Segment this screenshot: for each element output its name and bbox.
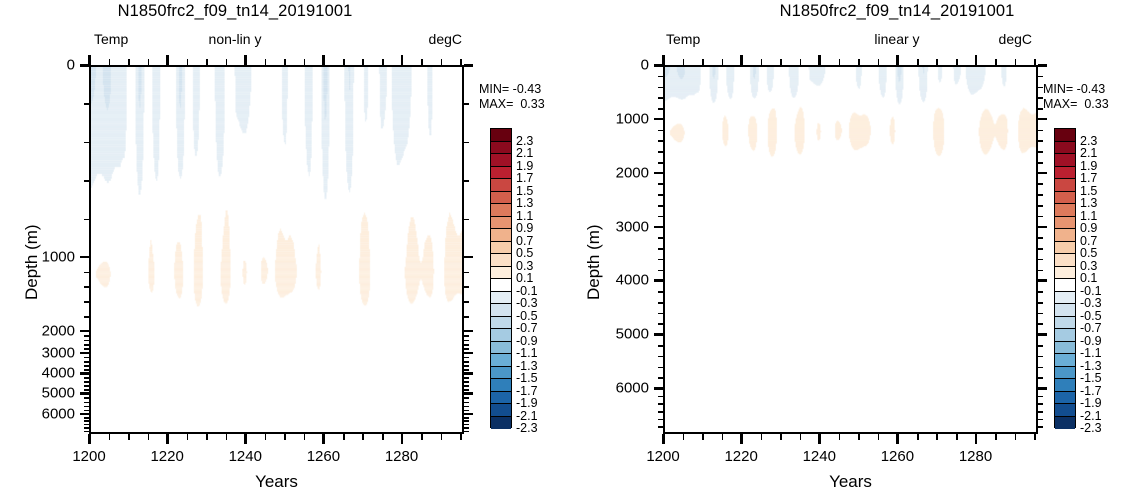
y-tick-minor: [658, 396, 663, 398]
y-tick-minor: [1038, 237, 1043, 239]
y-tick-label: 0: [166, 57, 649, 74]
x-tick-minor: [800, 434, 802, 440]
y-tick-minor: [464, 348, 469, 350]
page-title: N1850frc2_f09_tn14_20191001: [0, 2, 470, 21]
x-axis-label: Years: [89, 472, 464, 492]
colorbar-segment: [1055, 129, 1075, 142]
x-tick-minor: [839, 59, 841, 65]
y-tick-minor: [84, 180, 89, 182]
y-tick-minor: [1038, 194, 1043, 196]
x-tick-minor: [878, 434, 880, 440]
y-tick-minor: [658, 97, 663, 99]
colorbar-segment: [491, 367, 511, 380]
y-tick-minor: [464, 427, 469, 429]
colorbar-tick-label: -2.3: [516, 421, 538, 435]
colorbar-segment: [1055, 354, 1075, 367]
y-tick-label: 4000: [0, 365, 75, 382]
x-tick-minor: [362, 434, 364, 440]
y-tick-label: 2000: [166, 164, 649, 181]
y-tick-minor: [658, 367, 663, 369]
colorbar-segment: [1055, 417, 1075, 430]
y-tick-minor: [658, 237, 663, 239]
x-tick-minor: [109, 59, 111, 65]
y-tick-label: 3000: [0, 344, 75, 361]
y-tick-minor: [1038, 270, 1043, 272]
max-value-label: MAX= 0.33: [1043, 97, 1109, 112]
y-tick-minor: [1038, 313, 1043, 315]
y-tick-minor: [1038, 76, 1043, 78]
y-tick-label: 4000: [166, 272, 649, 289]
x-tick-major: [975, 434, 978, 444]
x-tick-major: [740, 434, 743, 444]
x-tick-minor: [995, 434, 997, 440]
colorbar-segment: [1055, 279, 1075, 292]
y-tick-minor: [464, 344, 469, 346]
y-tick-major: [80, 352, 89, 355]
y-tick-minor: [464, 406, 469, 408]
x-tick-minor: [956, 59, 958, 65]
x-tick-major: [401, 434, 404, 444]
y-tick-minor: [658, 194, 663, 196]
x-tick-minor: [343, 434, 345, 440]
y-tick-minor: [84, 348, 89, 350]
y-tick-minor: [464, 420, 469, 422]
colorbar-segment: [1055, 329, 1075, 342]
x-tick-minor: [780, 434, 782, 440]
y-tick-major: [80, 392, 89, 395]
x-tick-minor: [995, 59, 997, 65]
colorbar-segment: [491, 254, 511, 267]
y-tick-minor: [84, 397, 89, 399]
y-tick-minor: [658, 87, 663, 89]
y-tick-label: 1000: [0, 248, 75, 265]
y-tick-minor: [658, 377, 663, 379]
y-tick-minor: [1038, 426, 1043, 428]
y-tick-minor: [84, 340, 89, 342]
y-tick-minor: [1038, 411, 1043, 413]
x-tick-minor: [761, 59, 763, 65]
x-tick-minor: [128, 59, 130, 65]
y-tick-minor: [1038, 183, 1043, 185]
x-tick-minor: [460, 434, 462, 440]
x-tick-minor: [917, 434, 919, 440]
x-tick-major: [818, 55, 821, 65]
y-tick-minor: [464, 377, 469, 379]
colorbar-segment: [1055, 142, 1075, 155]
y-tick-major: [1038, 226, 1047, 229]
x-tick-minor: [128, 434, 130, 440]
colorbar-segment: [1055, 304, 1075, 317]
y-tick-major: [464, 256, 473, 259]
y-tick-label: 5000: [166, 326, 649, 343]
y-tick-minor: [658, 216, 663, 218]
y-tick-minor: [1038, 345, 1043, 347]
x-tick-minor: [1034, 59, 1036, 65]
x-tick-minor: [936, 59, 938, 65]
x-tick-minor: [722, 434, 724, 440]
y-tick-major: [654, 226, 663, 229]
colorbar: [1054, 128, 1076, 428]
x-tick-major: [322, 434, 325, 444]
y-tick-minor: [1038, 419, 1043, 421]
x-tick-minor: [148, 434, 150, 440]
x-tick-label: 1260: [881, 448, 914, 465]
x-tick-minor: [917, 59, 919, 65]
y-tick-minor: [658, 302, 663, 304]
y-tick-major: [80, 330, 89, 333]
y-tick-major: [464, 352, 473, 355]
y-tick-minor: [1038, 162, 1043, 164]
x-tick-minor: [206, 434, 208, 440]
x-tick-minor: [956, 434, 958, 440]
x-tick-major: [975, 55, 978, 65]
colorbar-segment: [1055, 154, 1075, 167]
x-tick-minor: [441, 434, 443, 440]
x-tick-label: 1200: [646, 448, 679, 465]
y-tick-minor: [84, 417, 89, 419]
y-tick-major: [654, 387, 663, 390]
y-tick-minor: [1038, 216, 1043, 218]
y-tick-minor: [84, 142, 89, 144]
colorbar-segment: [1055, 317, 1075, 330]
y-tick-minor: [84, 369, 89, 371]
x-tick-label: 1220: [150, 448, 183, 465]
x-tick-minor: [1034, 434, 1036, 440]
y-tick-minor: [84, 402, 89, 404]
y-tick-minor: [658, 419, 663, 421]
y-tick-major: [1038, 118, 1047, 121]
colorbar-segment: [491, 354, 511, 367]
y-tick-major: [1038, 387, 1047, 390]
y-tick-minor: [84, 103, 89, 105]
y-tick-label: 6000: [0, 405, 75, 422]
x-tick-minor: [1015, 434, 1017, 440]
y-tick-minor: [84, 272, 89, 274]
x-tick-major: [88, 55, 91, 65]
colorbar-segment: [1055, 179, 1075, 192]
y-tick-minor: [658, 323, 663, 325]
y-tick-minor: [464, 316, 469, 318]
x-tick-major: [896, 55, 899, 65]
x-axis-label: Years: [663, 472, 1038, 492]
y-tick-minor: [658, 291, 663, 293]
x-tick-minor: [858, 59, 860, 65]
y-tick-minor: [658, 248, 663, 250]
x-tick-label: 1240: [229, 448, 262, 465]
x-tick-major: [662, 55, 665, 65]
x-tick-minor: [761, 434, 763, 440]
y-tick-minor: [1038, 248, 1043, 250]
x-tick-major: [818, 434, 821, 444]
y-tick-minor: [658, 130, 663, 132]
y-tick-minor: [1038, 323, 1043, 325]
y-tick-minor: [1038, 356, 1043, 358]
y-tick-minor: [84, 361, 89, 363]
y-tick-label: 2000: [0, 322, 75, 339]
y-tick-minor: [1038, 367, 1043, 369]
x-tick-minor: [187, 434, 189, 440]
x-tick-minor: [722, 59, 724, 65]
y-tick-minor: [84, 365, 89, 367]
y-tick-major: [1038, 64, 1047, 67]
y-tick-minor: [1038, 302, 1043, 304]
y-tick-minor: [464, 361, 469, 363]
colorbar-segment: [491, 192, 511, 205]
colorbar-segment: [1055, 342, 1075, 355]
x-tick-minor: [284, 434, 286, 440]
colorbar-segment: [1055, 217, 1075, 230]
colorbar-segment: [1055, 204, 1075, 217]
x-tick-minor: [702, 59, 704, 65]
y-tick-minor: [84, 385, 89, 387]
y-tick-minor: [464, 431, 469, 433]
header-axis-type: non-lin y: [0, 31, 470, 47]
colorbar-tick-label: -2.3: [1080, 421, 1102, 435]
y-tick-minor: [84, 219, 89, 221]
y-tick-minor: [658, 76, 663, 78]
header-axis-type: linear y: [662, 31, 1132, 47]
page-title: N1850frc2_f09_tn14_20191001: [662, 2, 1132, 21]
y-tick-minor: [84, 286, 89, 288]
colorbar-segment: [1055, 254, 1075, 267]
colorbar-segment: [491, 129, 511, 142]
y-tick-minor: [658, 205, 663, 207]
x-tick-label: 1280: [959, 448, 992, 465]
y-tick-label: 0: [0, 57, 75, 74]
y-tick-major: [654, 279, 663, 282]
y-tick-minor: [464, 417, 469, 419]
y-tick-minor: [464, 142, 469, 144]
y-tick-minor: [1038, 140, 1043, 142]
y-tick-major: [1038, 172, 1047, 175]
y-tick-minor: [84, 316, 89, 318]
colorbar-segment: [491, 304, 511, 317]
y-tick-minor: [464, 397, 469, 399]
colorbar-segment: [491, 417, 511, 430]
colorbar-segment: [491, 204, 511, 217]
y-tick-minor: [84, 335, 89, 337]
y-tick-minor: [84, 424, 89, 426]
y-tick-minor: [1038, 151, 1043, 153]
x-tick-minor: [683, 434, 685, 440]
y-tick-major: [464, 372, 473, 375]
x-tick-minor: [878, 59, 880, 65]
panel-left: N1850frc2_f09_tn14_20191001 Temp non-lin…: [0, 0, 566, 499]
y-tick-minor: [658, 259, 663, 261]
colorbar-segment: [1055, 379, 1075, 392]
colorbar-segment: [491, 342, 511, 355]
y-tick-minor: [84, 406, 89, 408]
header-units: degC: [429, 31, 462, 47]
y-tick-minor: [84, 410, 89, 412]
y-tick-minor: [84, 427, 89, 429]
x-tick-major: [662, 434, 665, 444]
y-tick-minor: [1038, 377, 1043, 379]
colorbar-segment: [491, 292, 511, 305]
y-tick-minor: [464, 369, 469, 371]
x-tick-label: 1240: [803, 448, 836, 465]
y-tick-minor: [658, 426, 663, 428]
y-tick-minor: [1038, 205, 1043, 207]
y-tick-minor: [464, 424, 469, 426]
temperature-field: [665, 67, 1036, 432]
y-tick-minor: [84, 377, 89, 379]
y-tick-minor: [464, 357, 469, 359]
y-tick-major: [654, 333, 663, 336]
header-units: degC: [999, 31, 1032, 47]
x-tick-minor: [839, 434, 841, 440]
y-tick-minor: [84, 420, 89, 422]
x-tick-minor: [304, 434, 306, 440]
colorbar-segment: [1055, 242, 1075, 255]
y-tick-minor: [464, 301, 469, 303]
y-tick-major: [654, 172, 663, 175]
y-tick-major: [654, 118, 663, 121]
panel-right: N1850frc2_f09_tn14_20191001 Temp linear …: [566, 0, 1132, 499]
x-tick-major: [166, 434, 169, 444]
x-tick-major: [88, 434, 91, 444]
y-tick-label: 6000: [166, 380, 649, 397]
x-tick-minor: [683, 59, 685, 65]
y-tick-minor: [658, 345, 663, 347]
y-tick-major: [80, 372, 89, 375]
x-tick-label: 1280: [385, 448, 418, 465]
colorbar-segment: [1055, 292, 1075, 305]
y-tick-minor: [84, 431, 89, 433]
y-tick-minor: [1038, 291, 1043, 293]
y-tick-minor: [464, 402, 469, 404]
y-tick-minor: [84, 389, 89, 391]
colorbar-segment: [1055, 167, 1075, 180]
y-tick-minor: [464, 365, 469, 367]
y-tick-minor: [658, 183, 663, 185]
y-tick-major: [1038, 279, 1047, 282]
y-tick-minor: [1038, 396, 1043, 398]
y-tick-minor: [1038, 403, 1043, 405]
min-value-label: MIN= -0.43: [1043, 82, 1105, 97]
x-tick-minor: [265, 434, 267, 440]
colorbar-segment: [1055, 267, 1075, 280]
colorbar-segment: [1055, 404, 1075, 417]
colorbar-segment: [1055, 229, 1075, 242]
y-tick-label: 5000: [0, 385, 75, 402]
y-tick-major: [80, 256, 89, 259]
y-tick-major: [1038, 333, 1047, 336]
x-tick-major: [244, 434, 247, 444]
x-tick-major: [896, 434, 899, 444]
x-tick-minor: [780, 59, 782, 65]
x-tick-minor: [936, 434, 938, 440]
y-tick-minor: [1038, 130, 1043, 132]
y-tick-minor: [84, 301, 89, 303]
heatmap-plot-linear: [663, 65, 1038, 434]
x-tick-minor: [421, 434, 423, 440]
y-tick-minor: [84, 357, 89, 359]
y-tick-minor: [658, 270, 663, 272]
x-tick-minor: [702, 434, 704, 440]
x-tick-minor: [858, 434, 860, 440]
y-tick-minor: [658, 162, 663, 164]
y-tick-major: [80, 413, 89, 416]
y-tick-minor: [464, 103, 469, 105]
y-tick-label: 3000: [166, 218, 649, 235]
y-tick-minor: [658, 313, 663, 315]
y-tick-minor: [1038, 259, 1043, 261]
x-tick-label: 1200: [72, 448, 105, 465]
colorbar-segment: [1055, 392, 1075, 405]
x-tick-minor: [109, 434, 111, 440]
x-tick-major: [740, 55, 743, 65]
x-tick-minor: [800, 59, 802, 65]
y-tick-minor: [464, 410, 469, 412]
min-value-label: MIN= -0.43: [479, 82, 541, 97]
colorbar-segment: [1055, 192, 1075, 205]
colorbar-segment: [491, 142, 511, 155]
x-tick-minor: [148, 59, 150, 65]
y-tick-minor: [658, 411, 663, 413]
y-tick-label: 1000: [166, 110, 649, 127]
y-tick-minor: [658, 151, 663, 153]
colorbar-segment: [491, 404, 511, 417]
y-tick-minor: [84, 381, 89, 383]
x-tick-label: 1260: [307, 448, 340, 465]
x-tick-minor: [382, 434, 384, 440]
x-tick-minor: [1015, 59, 1017, 65]
colorbar-segment: [1055, 367, 1075, 380]
y-tick-minor: [658, 403, 663, 405]
y-tick-minor: [658, 108, 663, 110]
y-tick-minor: [84, 344, 89, 346]
y-tick-minor: [658, 356, 663, 358]
y-tick-minor: [658, 140, 663, 142]
x-tick-minor: [226, 434, 228, 440]
y-tick-major: [464, 413, 473, 416]
colorbar-segment: [491, 242, 511, 255]
x-tick-label: 1220: [724, 448, 757, 465]
